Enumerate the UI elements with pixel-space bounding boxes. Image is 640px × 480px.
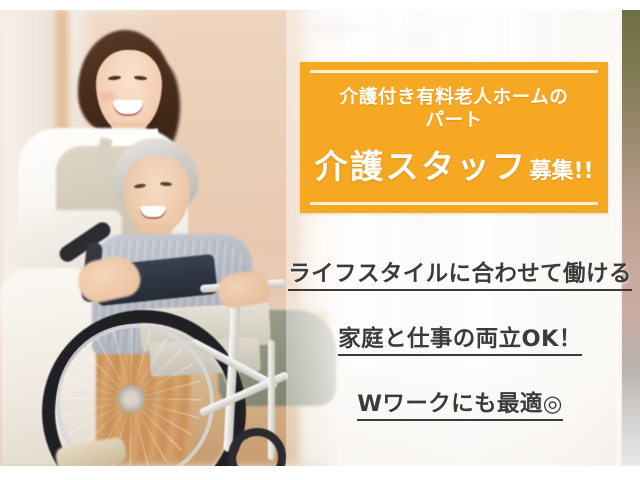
- banner-rule-bottom: [310, 202, 598, 205]
- banner-headline-main: 介護スタッフ: [314, 140, 527, 188]
- benefit-item-1: ライフスタイルに合わせて働ける: [288, 256, 632, 291]
- banner-employment-type: パート: [425, 109, 482, 134]
- benefit-item-2: 家庭と仕事の両立OK！: [338, 321, 581, 356]
- benefit-item-3: Wワークにも最適◎: [357, 386, 563, 421]
- banner-facility-type: 介護付き有料老人ホームの: [340, 87, 569, 109]
- wheelchair-wheel-hub: [117, 385, 145, 413]
- banner-headline: 介護スタッフ 募集!!: [314, 140, 593, 188]
- headline-banner: 介護付き有料老人ホームの パート 介護スタッフ 募集!!: [300, 62, 608, 213]
- letterbox-bottom: [0, 466, 640, 480]
- recruitment-ad-banner: 介護付き有料老人ホームの パート 介護スタッフ 募集!! ライフスタイルに合わせ…: [0, 0, 640, 480]
- banner-rule-top: [310, 70, 598, 73]
- benefit-list: ライフスタイルに合わせて働ける 家庭と仕事の両立OK！ Wワークにも最適◎: [290, 256, 630, 421]
- letterbox-top: [0, 0, 640, 10]
- banner-headline-suffix: 募集!!: [529, 153, 593, 185]
- banner-content: 介護付き有料老人ホームの パート 介護スタッフ 募集!!: [300, 78, 608, 197]
